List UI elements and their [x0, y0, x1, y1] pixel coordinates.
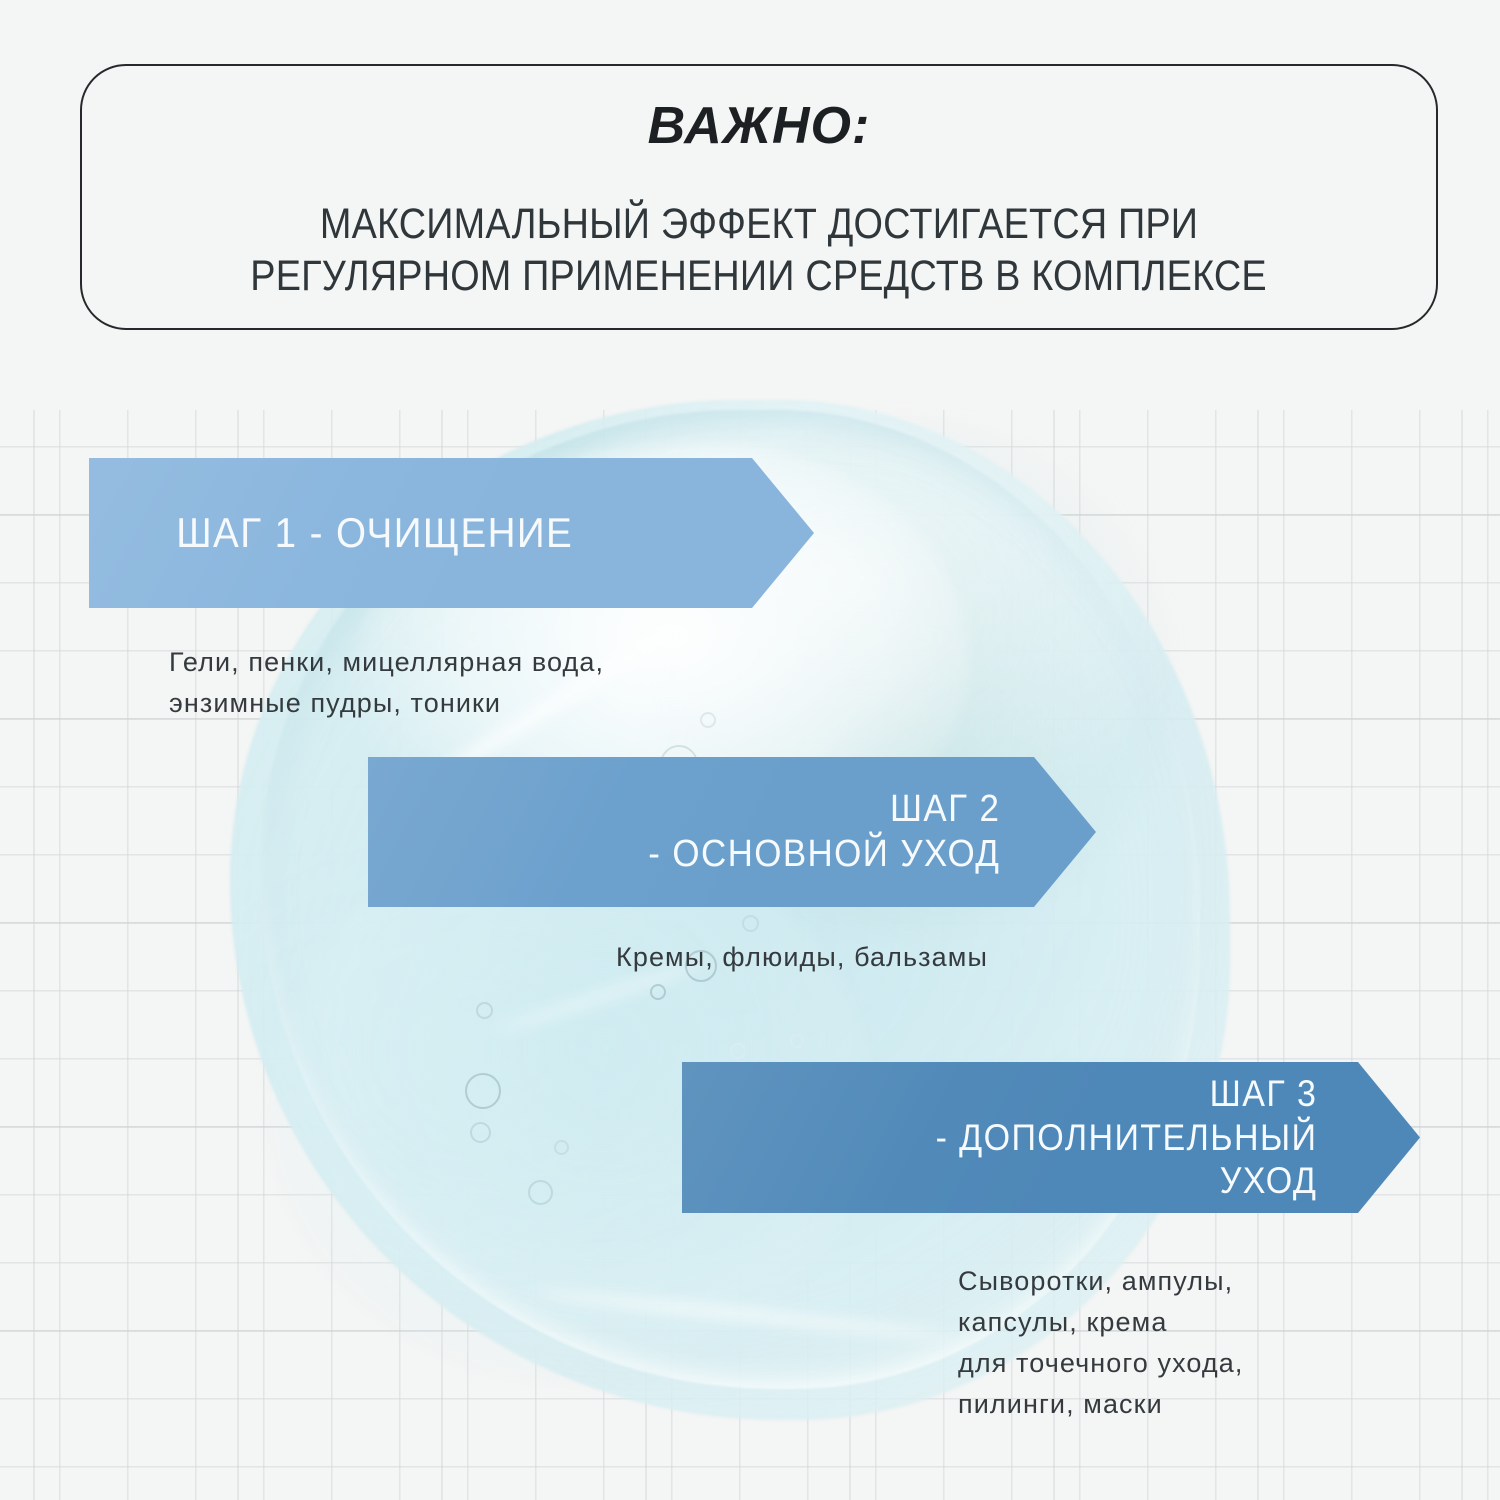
important-callout-box: ВАЖНО: МАКСИМАЛЬНЫЙ ЭФФЕКТ ДОСТИГАЕТСЯ П…	[80, 64, 1438, 330]
callout-body-line-2: РЕГУЛЯРНОМ ПРИМЕНЕНИИ СРЕДСТВ В КОМПЛЕКС…	[251, 250, 1268, 302]
step-2-label: ШАГ 2 - ОСНОВНОЙ УХОД	[649, 787, 1001, 877]
step-1-label: ШАГ 1 - ОЧИЩЕНИЕ	[176, 508, 573, 558]
bubble-icon	[730, 1043, 746, 1059]
bubble-icon	[476, 1002, 493, 1019]
step-3-description: Сыворотки, ампулы, капсулы, крема для то…	[958, 1261, 1420, 1425]
step-1-description: Гели, пенки, мицеллярная вода, энзимные …	[169, 642, 814, 724]
step-2-description: Кремы, флюиды, бальзамы	[616, 937, 1096, 978]
step-3-block: ШАГ 3 - ДОПОЛНИТЕЛЬНЫЙ УХОД Сыворотки, а…	[682, 1062, 1420, 1425]
step-3-label: ШАГ 3 - ДОПОЛНИТЕЛЬНЫЙ УХОД	[936, 1072, 1318, 1203]
step-2-block: ШАГ 2 - ОСНОВНОЙ УХОД Кремы, флюиды, бал…	[368, 757, 1096, 978]
bubble-icon	[465, 1073, 501, 1109]
step-2-arrow[interactable]: ШАГ 2 - ОСНОВНОЙ УХОД	[368, 757, 1096, 907]
step-3-arrow[interactable]: ШАГ 3 - ДОПОЛНИТЕЛЬНЫЙ УХОД	[682, 1062, 1420, 1213]
bubble-icon	[470, 1122, 491, 1143]
callout-title: ВАЖНО:	[648, 100, 871, 152]
step-1-block: ШАГ 1 - ОЧИЩЕНИЕ Гели, пенки, мицеллярна…	[89, 458, 814, 724]
callout-body-line-1: МАКСИМАЛЬНЫЙ ЭФФЕКТ ДОСТИГАЕТСЯ ПРИ	[320, 198, 1198, 250]
bubble-icon	[554, 1140, 569, 1155]
step-1-arrow[interactable]: ШАГ 1 - ОЧИЩЕНИЕ	[89, 458, 814, 608]
